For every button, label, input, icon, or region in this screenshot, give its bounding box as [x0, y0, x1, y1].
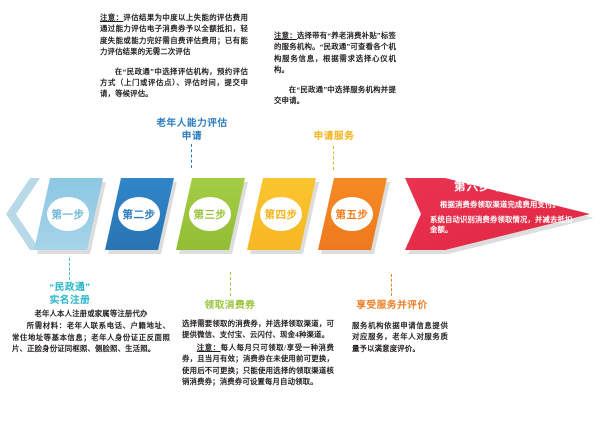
- note-bottom-left-paragraph-2: 所需材料：老年人联系电话、户籍地址、常住地址等基本信息；老年人身份证正反面照片、…: [12, 320, 170, 354]
- heading-apply-service-line1: 申请服务: [294, 131, 374, 144]
- connector-enjoy-service: [391, 274, 392, 296]
- step-badge-3: 第三步: [189, 197, 231, 231]
- heading-voucher-line1: 领取消费券: [190, 300, 270, 313]
- final-step-line-2: 系统自动识别消费券领取情况，并减去抵扣金额。: [424, 215, 576, 236]
- final-step-line-1: 根据消费券领取渠道完成费用支付。: [424, 200, 576, 210]
- final-step-content: 第六步 费用结算 根据消费券领取渠道完成费用支付。 系统自动识别消费券领取情况，…: [424, 180, 576, 236]
- heading-apply-service: 申请服务: [294, 131, 374, 144]
- note-lead-label: 注意：: [197, 343, 221, 352]
- heading-enjoy-service-line1: 享受服务并评价: [336, 300, 448, 313]
- step-badge-2: 第二步: [118, 197, 160, 231]
- heading-assessment-line1: 老年人能力评估: [137, 118, 247, 131]
- heading-registration: “民政通” 实名注册: [24, 282, 116, 307]
- heading-assessment: 老年人能力评估 申请: [137, 118, 247, 143]
- heading-registration-line1: “民政通”: [24, 282, 116, 295]
- note-bottom-right-paragraph-1: 服务机构依据申请信息提供对应服务，老年人对服务质量予以满意度评价。: [352, 320, 448, 354]
- infographic-canvas: 注意：评估结果为中度以上失能的评估费用通过能力评估电子消费券予以全额抵扣，轻度失…: [0, 0, 600, 443]
- step-badge-label: 第一步: [52, 207, 85, 222]
- note-top-left-paragraph-1: 注意：评估结果为中度以上失能的评估费用通过能力评估电子消费券予以全额抵扣，轻度失…: [100, 12, 248, 58]
- note-bottom-middle: 选择需要领取的消费券，并选择领取渠道，可提供微信、支付宝、云闪付、现金4种渠道。…: [182, 318, 334, 387]
- note-lead-label: 注意：: [100, 13, 123, 22]
- final-step-title: 第六步 费用结算: [424, 180, 576, 194]
- step-badge-label: 第四步: [265, 207, 298, 222]
- step-badge-4: 第四步: [260, 197, 302, 231]
- heading-registration-line2: 实名注册: [24, 295, 116, 308]
- step-badge-1: 第一步: [47, 197, 89, 231]
- note-top-left-paragraph-2: 在“民政通”中选择评估机构，预约评估方式（上门或评估点）、评估时间，提交申请，等…: [100, 66, 248, 100]
- note-top-left: 注意：评估结果为中度以上失能的评估费用通过能力评估电子消费券予以全额抵扣，轻度失…: [100, 12, 248, 100]
- arrow-tail: [6, 178, 40, 250]
- connector-registration: [69, 258, 70, 280]
- heading-voucher: 领取消费券: [190, 300, 270, 313]
- note-bottom-right: 服务机构依据申请信息提供对应服务，老年人对服务质量予以满意度评价。: [352, 320, 448, 354]
- step-badge-label: 第三步: [194, 207, 227, 222]
- step-badge-label: 第五步: [336, 207, 369, 222]
- note-top-right-paragraph-1: 注意：选择带有“养老消费补贴”标签的服务机构。“民政通”可查看各个机构服务信息，…: [274, 30, 396, 76]
- note-bottom-middle-paragraph-2: 注意：每人每月只可领取/享受一种消费券，且当月有效；消费券在未使用前可更换，使用…: [182, 342, 334, 388]
- note-top-right: 注意：选择带有“养老消费补贴”标签的服务机构。“民政通”可查看各个机构服务信息，…: [274, 30, 396, 106]
- heading-enjoy-service: 享受服务并评价: [336, 300, 448, 313]
- note-bottom-middle-paragraph-1: 选择需要领取的消费券，并选择领取渠道，可提供微信、支付宝、云闪付、现金4种渠道。: [182, 318, 334, 341]
- note-lead-label: 注意：: [274, 31, 297, 40]
- note-bottom-left: 老年人本人注册或家属等注册代办 所需材料：老年人联系电话、户籍地址、常住地址等基…: [12, 308, 170, 355]
- connector-voucher: [230, 272, 231, 296]
- step-badge-5: 第五步: [331, 197, 373, 231]
- heading-assessment-line2: 申请: [137, 131, 247, 144]
- step-badge-label: 第二步: [123, 207, 156, 222]
- note-bottom-left-paragraph-1: 老年人本人注册或家属等注册代办: [12, 308, 170, 319]
- note-top-right-paragraph-2: 在“民政通”中选择服务机构并提交申请。: [274, 84, 396, 107]
